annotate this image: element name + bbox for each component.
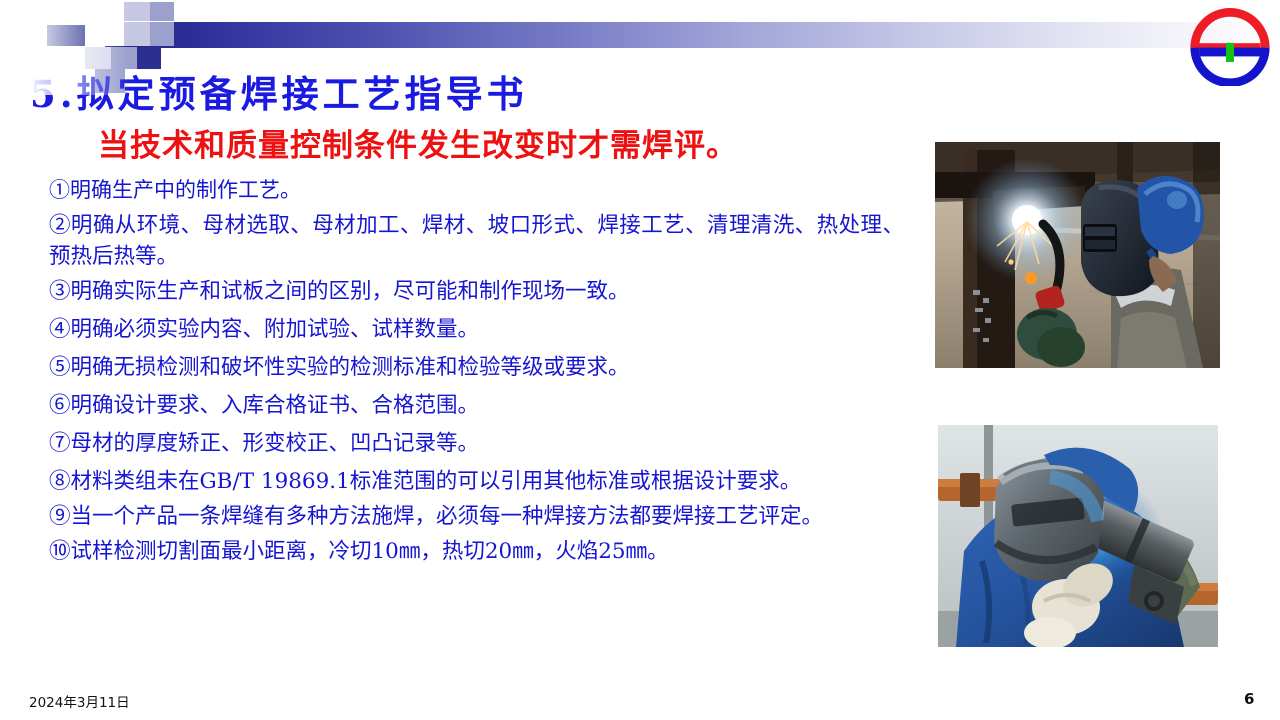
header-square-light-1 bbox=[124, 2, 150, 21]
list-item: ④明确必须实验内容、附加试验、试样数量。 bbox=[49, 314, 904, 345]
list-item: ⑦母材的厚度矫正、形变校正、凹凸记录等。 bbox=[49, 428, 904, 459]
page-title: 5.拟定预备焊接工艺指导书 bbox=[30, 64, 528, 118]
footer-date: 2024年3月11日 bbox=[29, 691, 130, 711]
slide-canvas: 5.拟定预备焊接工艺指导书 当技术和质量控制条件发生改变时才需焊评。 ①明确生产… bbox=[0, 0, 1280, 720]
header-square-white-2 bbox=[97, 22, 124, 46]
list-item: ⑩试样检测切割面最小距离，冷切10㎜，热切20㎜，火焰25㎜。 bbox=[49, 536, 904, 567]
header-square-light-2 bbox=[124, 22, 150, 46]
list-item: ⑥明确设计要求、入库合格证书、合格范围。 bbox=[49, 390, 904, 421]
highlight-subtitle: 当技术和质量控制条件发生改变时才需焊评。 bbox=[98, 120, 738, 165]
header-square-mid-2 bbox=[150, 22, 174, 46]
company-logo-icon bbox=[1188, 6, 1272, 86]
list-item: ③明确实际生产和试板之间的区别，尽可能和制作现场一致。 bbox=[49, 276, 904, 307]
list-item: ⑧材料类组未在GB/T 19869.1标准范围的可以引用其他标准或根据设计要求。 bbox=[49, 466, 904, 497]
header-gradient-band bbox=[105, 22, 1280, 48]
pipe-welding-photo bbox=[938, 425, 1218, 647]
welder-arc-photo bbox=[935, 142, 1220, 368]
list-item: ⑨当一个产品一条焊缝有多种方法施焊，必须每一种焊接方法都要焊接工艺评定。 bbox=[49, 501, 904, 532]
list-item: ⑤明确无损检测和破坏性实验的检测标准和检验等级或要求。 bbox=[49, 352, 904, 383]
header-square-navy bbox=[47, 25, 85, 46]
list-item: ②明确从环境、母材选取、母材加工、焊材、坡口形式、焊接工艺、清理清洗、热处理、预… bbox=[49, 210, 904, 272]
list-item: ①明确生产中的制作工艺。 bbox=[49, 176, 904, 204]
header-square-white-1 bbox=[97, 2, 124, 21]
footer-page-number: 6 bbox=[1244, 690, 1254, 708]
requirements-list: ①明确生产中的制作工艺。 ②明确从环境、母材选取、母材加工、焊材、坡口形式、焊接… bbox=[49, 176, 904, 574]
header-square-mid-1 bbox=[150, 2, 174, 21]
